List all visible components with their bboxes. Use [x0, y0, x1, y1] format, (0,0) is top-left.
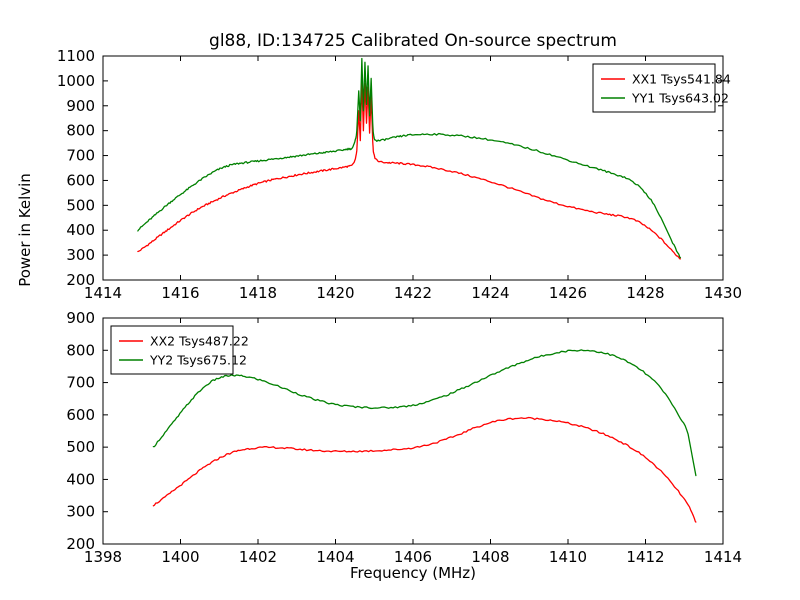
y-tick-label: 400 [66, 221, 95, 239]
legend-entry-label: YY1 Tsys643.02 [631, 91, 729, 106]
bottom-panel-series [153, 350, 696, 522]
legend-entry-label: XX2 Tsys487.22 [150, 334, 249, 349]
series-line [153, 418, 696, 522]
y-tick-label: 900 [66, 97, 95, 115]
top-panel-legend[interactable]: XX1 Tsys541.84YY1 Tsys643.02 [593, 64, 731, 112]
y-tick-label: 500 [66, 196, 95, 214]
y-tick-label: 1000 [57, 72, 95, 90]
x-tick-label: 1416 [161, 284, 199, 302]
y-tick-label: 200 [66, 535, 95, 553]
series-line [153, 350, 696, 476]
page-title: gl88, ID:134725 Calibrated On-source spe… [209, 31, 617, 51]
bottom-panel-legend[interactable]: XX2 Tsys487.22YY2 Tsys675.12 [111, 326, 249, 374]
y-tick-label: 200 [66, 271, 95, 289]
x-tick-label: 1422 [394, 284, 432, 302]
y-tick-label: 500 [66, 438, 95, 456]
y-tick-label: 300 [66, 246, 95, 264]
x-tick-label: 1404 [316, 548, 354, 566]
x-tick-label: 1412 [626, 548, 664, 566]
x-tick-label: 1420 [316, 284, 354, 302]
x-tick-label: 1430 [704, 284, 742, 302]
bottom-panel: 1398140014021404140614081410141214142003… [66, 309, 742, 566]
y-tick-label: 600 [66, 406, 95, 424]
figure-canvas: gl88, ID:134725 Calibrated On-source spe… [0, 0, 800, 600]
x-tick-label: 1414 [704, 548, 742, 566]
legend-entry-label: YY2 Tsys675.12 [149, 353, 247, 368]
y-tick-label: 1100 [57, 47, 95, 65]
spectrum-plot: gl88, ID:134725 Calibrated On-source spe… [0, 0, 800, 600]
x-tick-label: 1408 [471, 548, 509, 566]
y-tick-label: 300 [66, 503, 95, 521]
x-axis-label: Frequency (MHz) [350, 564, 476, 582]
y-tick-label: 700 [66, 374, 95, 392]
y-tick-label: 800 [66, 341, 95, 359]
y-tick-label: 700 [66, 147, 95, 165]
x-tick-label: 1428 [626, 284, 664, 302]
x-tick-label: 1426 [549, 284, 587, 302]
x-tick-label: 1410 [549, 548, 587, 566]
x-tick-label: 1418 [239, 284, 277, 302]
x-tick-label: 1402 [239, 548, 277, 566]
top-panel: 1414141614181420142214241426142814302003… [57, 47, 742, 302]
y-axis-label: Power in Kelvin [16, 173, 34, 287]
x-tick-label: 1406 [394, 548, 432, 566]
legend-entry-label: XX1 Tsys541.84 [632, 72, 731, 87]
x-tick-label: 1424 [471, 284, 509, 302]
x-tick-label: 1400 [161, 548, 199, 566]
y-tick-label: 400 [66, 470, 95, 488]
y-tick-label: 900 [66, 309, 95, 327]
y-tick-label: 600 [66, 171, 95, 189]
y-tick-label: 800 [66, 122, 95, 140]
